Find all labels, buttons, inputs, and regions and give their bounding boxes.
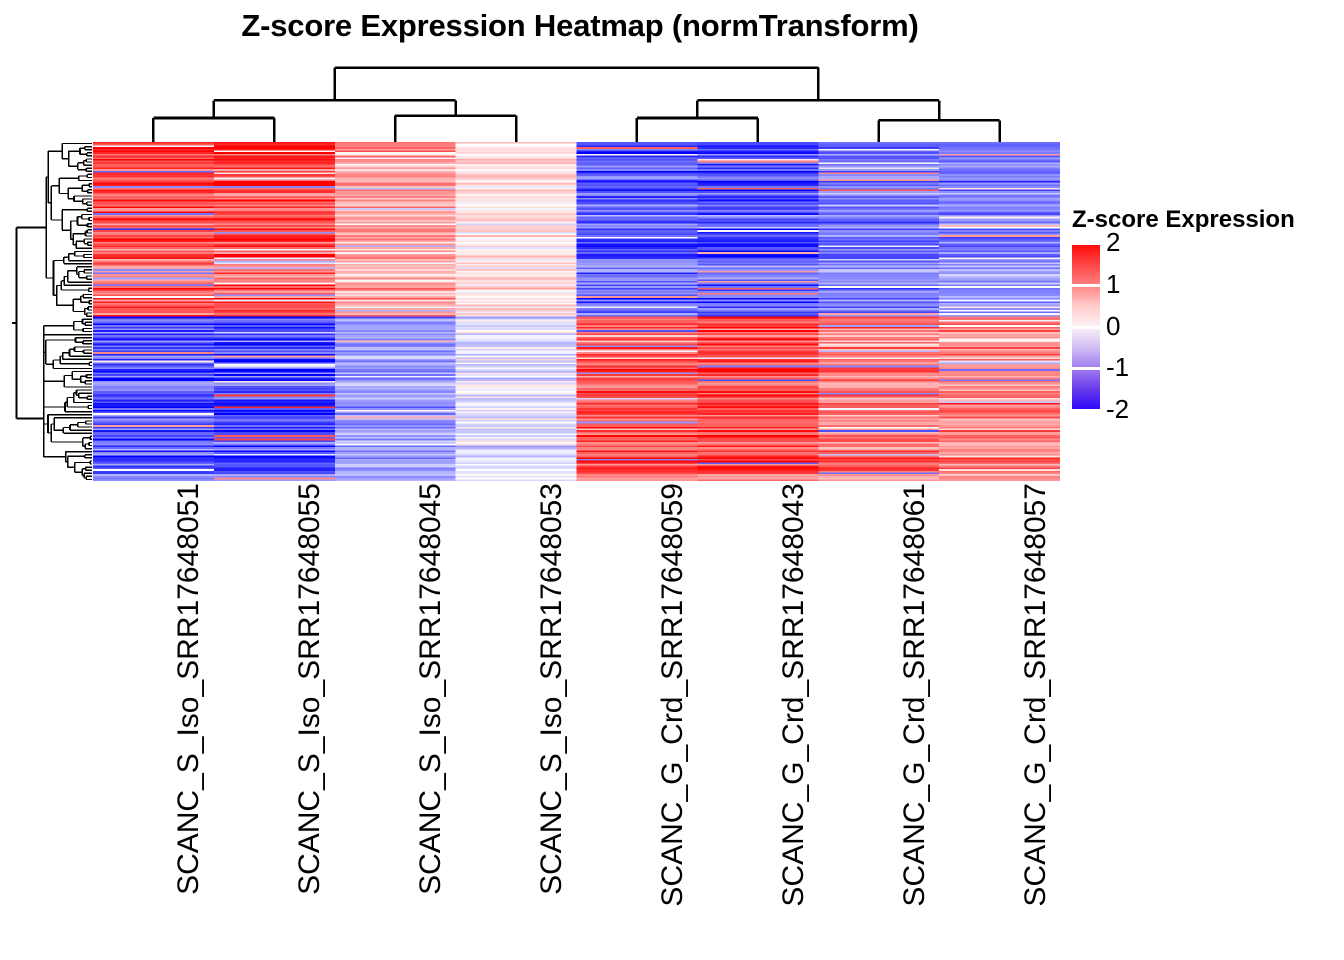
legend-colorbar-wrap [1072,242,1100,412]
column-label-text: SCANC_S_Iso_SRR17648045 [416,483,446,895]
column-labels: SCANC_S_Iso_SRR17648051SCANC_S_Iso_SRR17… [93,483,1060,953]
heatmap-figure: Z-score Expression Heatmap (normTransfor… [0,0,1344,960]
column-label: SCANC_G_Crd_SRR17648057 [1011,483,1041,907]
legend-tick-mark [1072,367,1100,370]
column-label: SCANC_S_Iso_SRR17648045 [406,483,436,895]
column-label-text: SCANC_S_Iso_SRR17648051 [174,483,204,895]
column-label-text: SCANC_G_Crd_SRR17648061 [900,483,930,907]
column-label-text: SCANC_G_Crd_SRR17648059 [658,483,688,907]
legend-tick-label: 2 [1106,229,1120,255]
column-label: SCANC_G_Crd_SRR17648043 [769,483,799,907]
column-label-text: SCANC_G_Crd_SRR17648043 [779,483,809,907]
column-label: SCANC_G_Crd_SRR17648061 [890,483,920,907]
color-legend: Z-score Expression 210-1-2 [1070,206,1340,421]
column-label: SCANC_G_Crd_SRR17648059 [648,483,678,907]
legend-tick-mark [1072,326,1100,329]
heatmap-grid[interactable] [93,142,1060,481]
column-label: SCANC_S_Iso_SRR17648053 [527,483,557,895]
column-label-text: SCANC_S_Iso_SRR17648053 [537,483,567,895]
column-label: SCANC_S_Iso_SRR17648055 [285,483,315,895]
column-label-text: SCANC_S_Iso_SRR17648055 [295,483,325,895]
legend-tick-mark [1072,242,1100,245]
column-label-text: SCANC_G_Crd_SRR17648057 [1021,483,1051,907]
row-dendrogram [12,142,92,481]
legend-tick-label: 0 [1106,313,1120,339]
legend-tick-label: -1 [1106,354,1129,380]
column-label: SCANC_S_Iso_SRR17648051 [164,483,194,895]
heatmap-canvas[interactable] [93,142,1060,481]
legend-tick-mark [1072,409,1100,412]
legend-tick-mark [1072,284,1100,287]
legend-tick-label: 1 [1106,271,1120,297]
column-dendrogram [93,58,1060,142]
legend-tick-label: -2 [1106,396,1129,422]
page-title: Z-score Expression Heatmap (normTransfor… [0,8,1160,44]
